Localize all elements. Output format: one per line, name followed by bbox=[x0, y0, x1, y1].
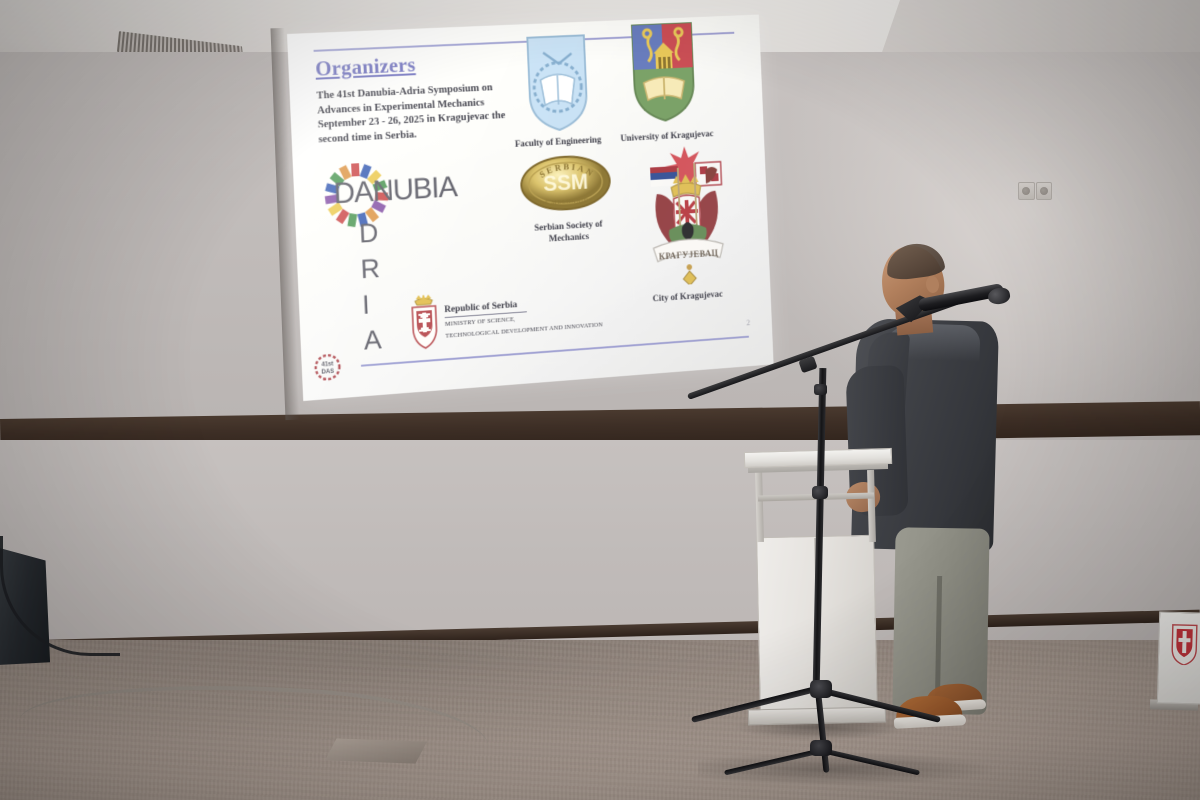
faculty-of-engineering-logo-icon bbox=[523, 29, 591, 133]
svg-text:41st: 41st bbox=[321, 361, 333, 368]
adria-d: D bbox=[358, 215, 379, 252]
university-of-kragujevac-logo-icon bbox=[628, 19, 699, 126]
danubia-adria-logo: DANUBIA D R I A bbox=[320, 153, 503, 361]
adria-column: D R I A bbox=[358, 215, 383, 359]
das-badge-icon: 41st DAS bbox=[313, 352, 342, 382]
adria-i: I bbox=[362, 286, 383, 323]
adria-a: A bbox=[363, 322, 384, 359]
svg-text:SSM: SSM bbox=[543, 169, 589, 196]
tripod-leg-left bbox=[691, 686, 817, 723]
microphone-stand bbox=[688, 282, 1008, 792]
tripod-leg-right bbox=[815, 686, 941, 723]
socket-right bbox=[1036, 182, 1053, 200]
mic-stand-pole bbox=[813, 368, 827, 690]
banner-crest-icon bbox=[1169, 621, 1200, 666]
roll-up-banner bbox=[1157, 611, 1200, 704]
society-caption: Serbian Society of Mechanics bbox=[527, 218, 611, 246]
adria-r: R bbox=[360, 250, 381, 287]
danubia-da: DA bbox=[333, 175, 373, 210]
mic-stand-height-knob bbox=[812, 486, 828, 499]
wall-socket-icon bbox=[1018, 182, 1052, 200]
floor-access-plate bbox=[325, 738, 427, 763]
danubia-nubia: NUBIA bbox=[372, 171, 457, 208]
serbian-society-of-mechanics-logo-icon: SERBIAN SSM OF MECHANICS bbox=[518, 152, 613, 214]
slide-body-text: The 41st Danubia-Adria Symposium on Adva… bbox=[316, 79, 526, 147]
mic-stand-boom-knob bbox=[814, 384, 827, 395]
socket-left bbox=[1018, 182, 1035, 200]
slide-title: Organizers bbox=[315, 52, 416, 81]
tripod-hub bbox=[810, 680, 832, 698]
city-of-kragujevac-coat-of-arms-icon: КРАГУЈЕВАЦ bbox=[636, 136, 738, 288]
danubia-wordmark-row: DANUBIA bbox=[333, 171, 457, 212]
tripod-lower-hub bbox=[810, 740, 832, 756]
faculty-caption: Faculty of Engineering bbox=[509, 134, 607, 151]
svg-text:DAS: DAS bbox=[321, 369, 334, 376]
presentation-room-photo: Organizers The 41st Danubia-Adria Sympos… bbox=[0, 0, 1200, 800]
